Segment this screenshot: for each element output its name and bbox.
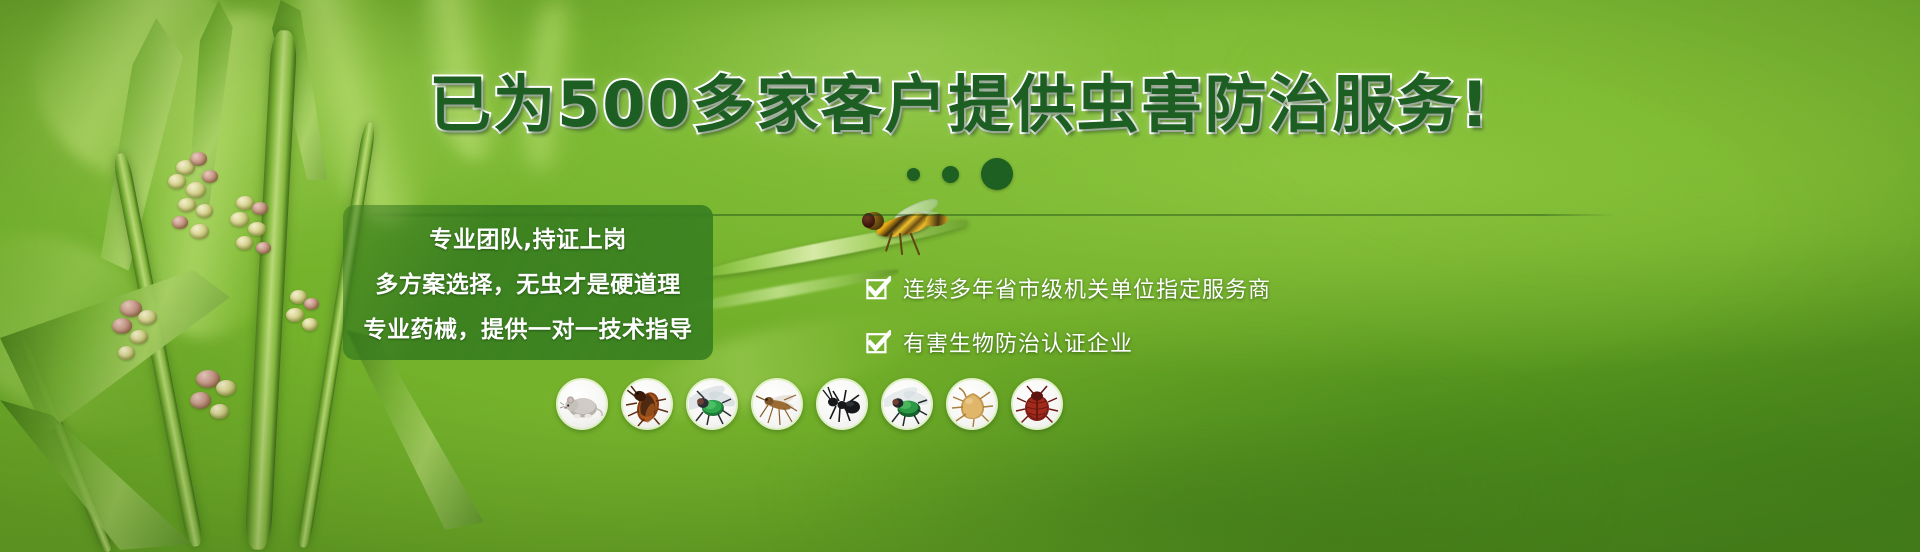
blowfly-icon[interactable] [686, 378, 738, 430]
page-title-text: 已为500多家客户提供虫害防治服务! [429, 74, 1491, 136]
mosquito-icon[interactable] [751, 378, 803, 430]
checkbox-checked-icon [866, 276, 891, 301]
dot-small-icon [907, 168, 920, 181]
list-item-label: 连续多年省市级机关单位指定服务商 [903, 272, 1271, 304]
greenfly-icon[interactable] [881, 378, 933, 430]
pest-icon-row [556, 378, 1063, 430]
rodent-icon[interactable] [556, 378, 608, 430]
selling-point-line: 多方案选择，无虫才是硬道理 [375, 265, 681, 299]
list-item-label: 有害生物防治认证企业 [903, 326, 1133, 358]
pest-control-banner: 已为500多家客户提供虫害防治服务! 专业团队,持证上岗 多方案选择，无虫才是硬… [0, 0, 1920, 552]
dot-medium-icon [942, 166, 959, 183]
list-item: 有害生物防治认证企业 [866, 326, 1271, 358]
checkbox-checked-icon [866, 330, 891, 355]
selling-point-line: 专业团队,持证上岗 [429, 220, 626, 254]
credentials-checklist: 连续多年省市级机关单位指定服务商 有害生物防治认证企业 [866, 272, 1271, 358]
selling-point-line: 专业药械，提供一对一技术指导 [364, 310, 693, 344]
selling-points-panel: 专业团队,持证上岗 多方案选择，无虫才是硬道理 专业药械，提供一对一技术指导 [343, 205, 713, 360]
cockroach-icon[interactable] [621, 378, 673, 430]
decorative-dots [0, 158, 1920, 190]
hoverfly-icon [846, 196, 966, 260]
page-title: 已为500多家客户提供虫害防治服务! [0, 74, 1920, 136]
list-item: 连续多年省市级机关单位指定服务商 [866, 272, 1271, 304]
flea-icon[interactable] [946, 378, 998, 430]
bedbug-icon[interactable] [1011, 378, 1063, 430]
leaf-blade-icon [330, 330, 490, 530]
ant-icon[interactable] [816, 378, 868, 430]
dot-large-icon [981, 158, 1013, 190]
